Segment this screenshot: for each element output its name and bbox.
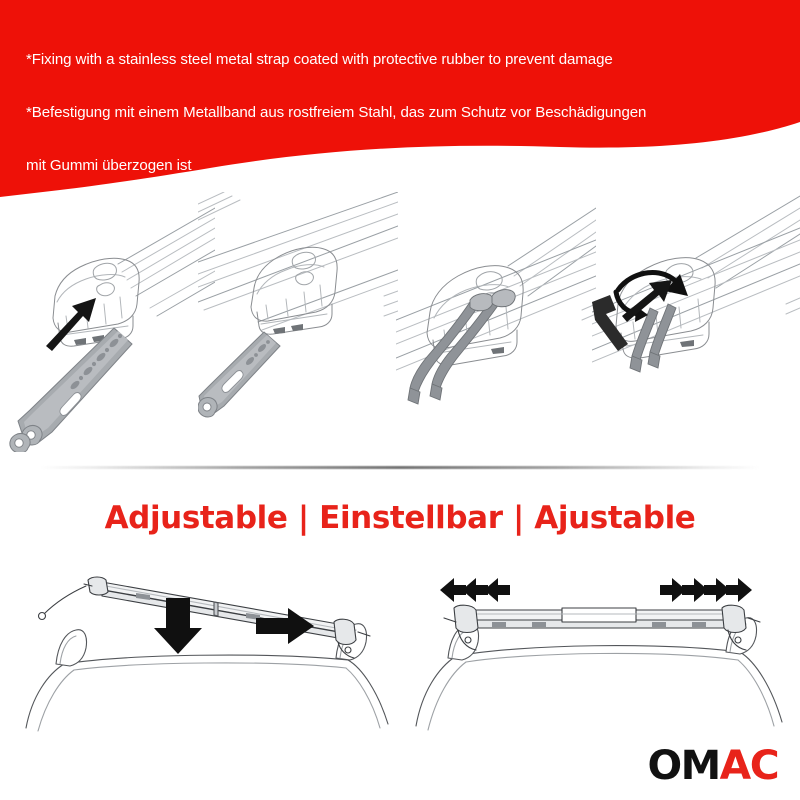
banner-description: *Fixing with a stainless steel metal str… — [26, 16, 782, 200]
adjustability-strip — [0, 556, 800, 736]
banner-line-de-2: mit Gummi überzogen ist — [26, 157, 782, 175]
omac-logo: OMAC — [650, 744, 778, 786]
step-2-illustration — [198, 192, 398, 452]
triple-left-arrow-icon — [440, 578, 510, 602]
straight-arrow-up-right-icon — [46, 298, 96, 351]
banner-line-de-1: *Befestigung mit einem Metallband aus ro… — [26, 104, 782, 122]
page-title: Adjustable | Einstellbar | Ajustable — [0, 500, 800, 536]
section-divider — [40, 466, 760, 469]
width-adjust-drawing — [410, 556, 788, 736]
installation-steps-strip — [0, 192, 800, 452]
step-4-illustration — [592, 192, 800, 452]
height-adjust-drawing — [18, 556, 400, 736]
logo-accent-text: AC — [720, 743, 778, 789]
metal-strap — [198, 332, 280, 417]
step-3-illustration — [396, 192, 596, 452]
step-2-drawing — [198, 192, 398, 452]
step-1-drawing — [0, 192, 215, 452]
step-1-illustration — [0, 192, 215, 452]
banner-line-en-1: *Fixing with a stainless steel metal str… — [26, 51, 782, 69]
infographic-page: *Fixing with a stainless steel metal str… — [0, 0, 800, 800]
width-adjust-panel — [410, 556, 788, 736]
triple-right-arrow-icon — [660, 578, 752, 602]
header-banner: *Fixing with a stainless steel metal str… — [0, 0, 800, 200]
height-adjust-panel — [18, 556, 400, 736]
step-3-drawing — [396, 192, 596, 452]
step-4-drawing — [592, 192, 800, 452]
logo-dark-text: OM — [647, 743, 719, 789]
